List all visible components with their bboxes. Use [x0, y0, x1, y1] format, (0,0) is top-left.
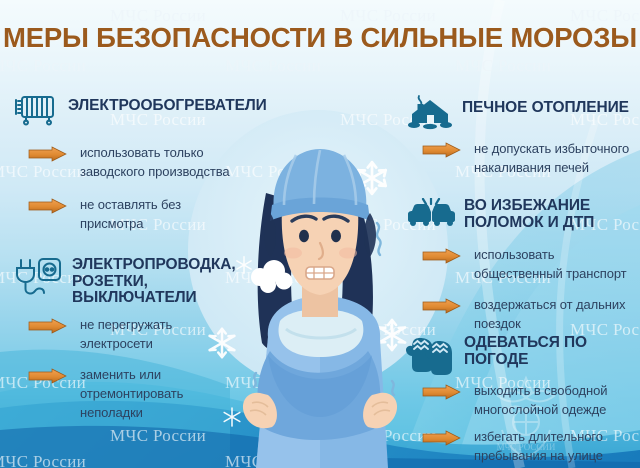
impact-lines: [423, 198, 439, 204]
arrow-icon: [422, 142, 462, 158]
section-heading: ЭЛЕКТРОПРОВОДКА, РОЗЕТКИ, ВЫКЛЮЧАТЕЛИ: [72, 257, 236, 307]
arrow-icon: [422, 430, 462, 446]
section-stove-heating: ПЕЧНОЕ ОТОПЛЕНИЕ не допускать избыточног…: [406, 92, 640, 130]
arrow-icon: [28, 368, 68, 384]
bullet-item: не допускать избыточного накаливания печ…: [422, 140, 640, 178]
bullet-text: использовать общественный транспорт: [474, 246, 627, 284]
bullet-text: не допускать избыточного накаливания печ…: [474, 140, 629, 178]
bullet-item: заменить или отремонтировать неполадки: [28, 366, 300, 423]
bullet-item: не оставлять без присмотра: [28, 196, 300, 234]
plug-socket-icon: [12, 256, 64, 304]
section-heading: ЭЛЕКТРООБОГРЕВАТЕЛИ: [68, 98, 267, 115]
radiator-icon: [12, 92, 60, 126]
section-avoid-breakdowns-accidents: ВО ИЗБЕЖАНИЕ ПОЛОМОК И ДТП использовать …: [406, 198, 640, 232]
section-dress-for-weather: ОДЕВАТЬСЯ ПО ПОГОДЕ выходить в свободной…: [406, 332, 640, 376]
snowflake-icon: [379, 320, 405, 350]
bullet-item: не перегружать электросети: [28, 316, 300, 354]
mittens-icon: [406, 332, 456, 376]
bullet-text: воздержаться от дальних поездок: [474, 296, 625, 334]
section-heading: ПЕЧНОЕ ОТОПЛЕНИЕ: [462, 100, 629, 117]
bullet-text: избегать длительного пребывания на улице: [474, 428, 603, 466]
eye-right: [331, 230, 341, 242]
page-title: МЕРЫ БЕЗОПАСНОСТИ В СИЛЬНЫЕ МОРОЗЫ: [0, 22, 640, 54]
arrow-icon: [422, 298, 462, 314]
section-electric-heaters: ЭЛЕКТРООБОГРЕВАТЕЛИ использовать только …: [12, 92, 300, 126]
bullet-item: выходить в свободной многослойной одежде: [422, 382, 640, 420]
section-heading: ВО ИЗБЕЖАНИЕ ПОЛОМОК И ДТП: [464, 198, 594, 231]
infographic-poster: МЧС России МЧС России МЧС России МЧС Рос…: [0, 0, 640, 468]
house-chimney-icon: [406, 92, 454, 130]
section-wiring-sockets-switches: ЭЛЕКТРОПРОВОДКА, РОЗЕТКИ, ВЫКЛЮЧАТЕЛИ не…: [12, 256, 300, 307]
eye-left: [299, 230, 309, 242]
bullet-item: использовать только заводского производс…: [28, 144, 300, 182]
arrow-icon: [28, 146, 68, 162]
arrow-icon: [28, 318, 68, 334]
bullet-item: воздержаться от дальних поездок: [422, 296, 640, 334]
section-heading: ОДЕВАТЬСЯ ПО ПОГОДЕ: [464, 335, 587, 368]
bullet-text: использовать только заводского производс…: [80, 144, 230, 182]
bullet-text: заменить или отремонтировать неполадки: [80, 366, 183, 423]
bullet-text: не оставлять без присмотра: [80, 196, 181, 234]
arrow-icon: [422, 248, 462, 264]
bullet-text: не перегружать электросети: [80, 316, 172, 354]
bullet-text: выходить в свободной многослойной одежде: [474, 382, 607, 420]
bullet-item: использовать общественный транспорт: [422, 246, 640, 284]
bullet-item: избегать длительного пребывания на улице: [422, 428, 640, 466]
car-crash-icon: [406, 198, 456, 232]
arrow-icon: [28, 198, 68, 214]
arrow-icon: [422, 384, 462, 400]
